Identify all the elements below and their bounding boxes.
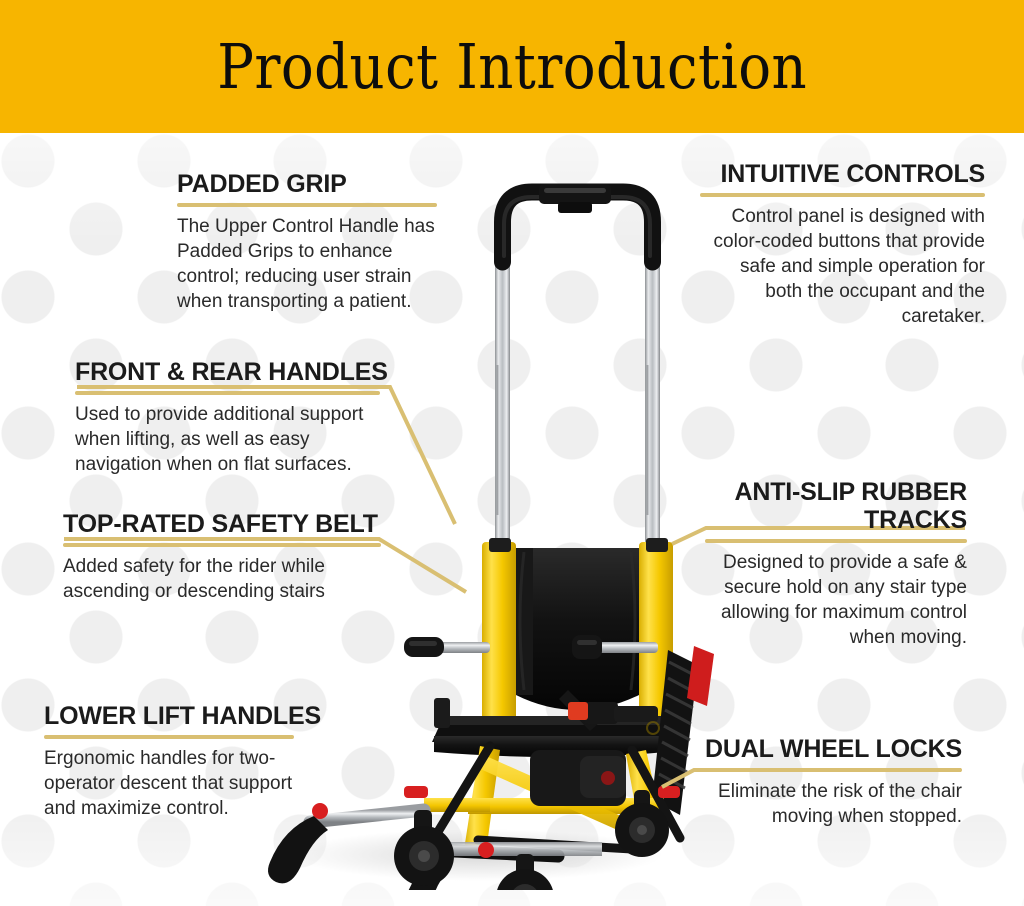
- callout-body: Used to provide additional support when …: [75, 402, 380, 477]
- belt-buckle: [584, 702, 618, 724]
- callout-body: Ergonomic handles for two-operator desce…: [44, 746, 294, 821]
- callout-body: Designed to provide a safe & secure hold…: [705, 550, 967, 650]
- callout-rule: [63, 543, 381, 547]
- infographic-page: Product Introduction: [0, 0, 1024, 906]
- callout-padded-grip: PADDED GRIP The Upper Control Handle has…: [177, 170, 437, 314]
- callout-body: The Upper Control Handle has Padded Grip…: [177, 214, 437, 314]
- track-red-accent: [687, 646, 714, 706]
- callout-anti-slip-rubber-tracks: ANTI-SLIP RUBBER TRACKS Designed to prov…: [705, 478, 967, 650]
- motor-indicator: [601, 771, 615, 785]
- callout-rule: [44, 735, 294, 739]
- motor-housing: [530, 750, 626, 806]
- callout-rule: [700, 193, 985, 197]
- callout-title: FRONT & REAR HANDLES: [75, 358, 380, 386]
- callout-rule: [75, 391, 380, 395]
- callout-front-rear-handles: FRONT & REAR HANDLES Used to provide add…: [75, 358, 380, 477]
- belt-release-button: [568, 702, 588, 720]
- page-title: Product Introduction: [217, 36, 807, 98]
- callout-title: DUAL WHEEL LOCKS: [694, 735, 962, 763]
- callout-body: Eliminate the risk of the chair moving w…: [694, 779, 962, 829]
- callout-title: PADDED GRIP: [177, 170, 437, 198]
- callout-title: LOWER LIFT HANDLES: [44, 702, 294, 730]
- callout-lower-lift-handles: LOWER LIFT HANDLES Ergonomic handles for…: [44, 702, 294, 821]
- callout-rule: [177, 203, 437, 207]
- callout-intuitive-controls: INTUITIVE CONTROLS Control panel is desi…: [700, 160, 985, 329]
- dual-wheel-lock-right: [658, 786, 680, 798]
- callout-title: INTUITIVE CONTROLS: [700, 160, 985, 188]
- callout-dual-wheel-locks: DUAL WHEEL LOCKS Eliminate the risk of t…: [694, 735, 962, 829]
- callout-rule: [694, 768, 962, 772]
- lift-handle-release-button-right: [478, 842, 494, 858]
- armrest-left: [404, 637, 490, 657]
- callout-body: Control panel is designed with color-cod…: [700, 204, 985, 329]
- backrest: [516, 548, 639, 710]
- callout-body: Added safety for the rider while ascendi…: [63, 554, 381, 604]
- callout-title: TOP-RATED SAFETY BELT: [63, 510, 381, 538]
- handle-release-latch: [539, 184, 611, 204]
- callout-rule: [705, 539, 967, 543]
- callout-top-rated-safety-belt: TOP-RATED SAFETY BELT Added safety for t…: [63, 510, 381, 604]
- header-banner: Product Introduction: [0, 0, 1024, 133]
- callout-title: ANTI-SLIP RUBBER TRACKS: [705, 478, 967, 534]
- dual-wheel-lock-left: [404, 786, 428, 798]
- lift-handle-release-button-left: [312, 803, 328, 819]
- telescoping-upper-control-handle: [495, 184, 660, 550]
